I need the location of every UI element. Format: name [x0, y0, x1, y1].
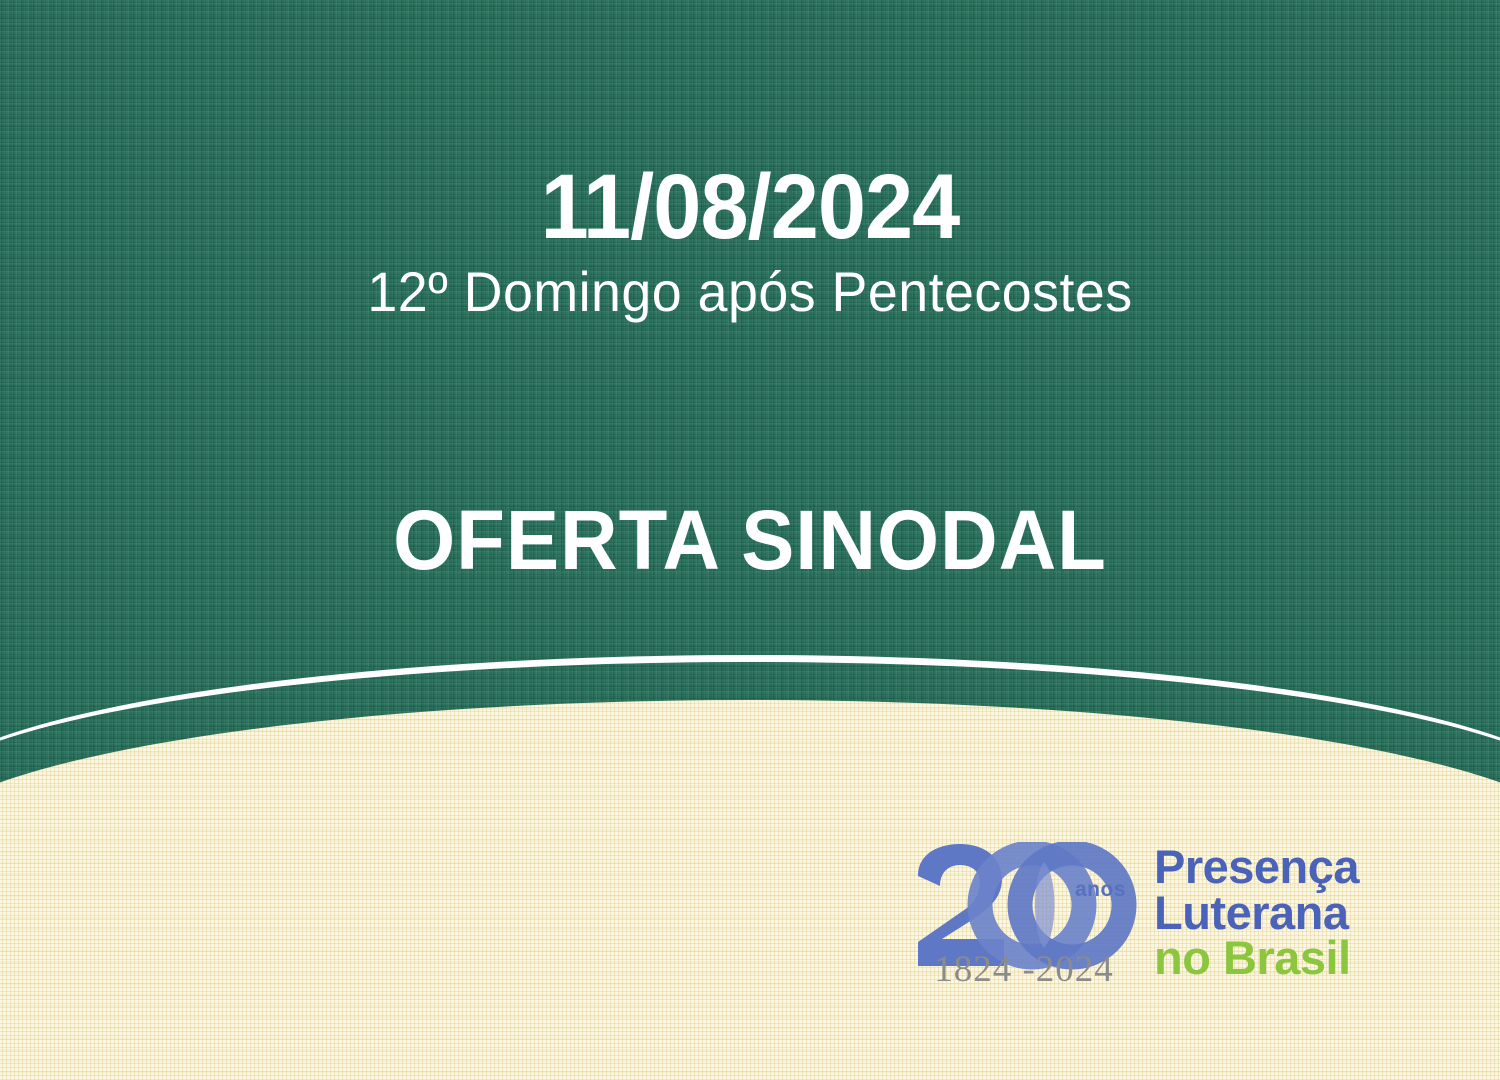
service-date: 11/08/2024 — [45, 160, 1455, 256]
page-title: OFERTA SINODAL — [38, 492, 1463, 589]
anos-label: anos — [1075, 878, 1126, 902]
logo-line-luterana: Luterana — [1154, 890, 1359, 936]
presenca-luterana-logo: anos 1824 -2024 Presença Luterana no Bra… — [912, 842, 1432, 1002]
logo-wordmark: Presença Luterana no Brasil — [1154, 842, 1359, 981]
logo-line-presenca: Presença — [1154, 844, 1359, 890]
logo-line-no-brasil: no Brasil — [1154, 935, 1359, 981]
years-range: 1824 -2024 — [918, 948, 1130, 991]
liturgical-day: 12º Domingo após Pentecostes — [30, 260, 1470, 324]
headline-block: 11/08/2024 12º Domingo após Pentecostes — [0, 160, 1500, 324]
200-anos-mark-icon: anos 1824 -2024 — [912, 842, 1148, 1002]
poster-canvas: 11/08/2024 12º Domingo após Pentecostes … — [0, 0, 1500, 1080]
